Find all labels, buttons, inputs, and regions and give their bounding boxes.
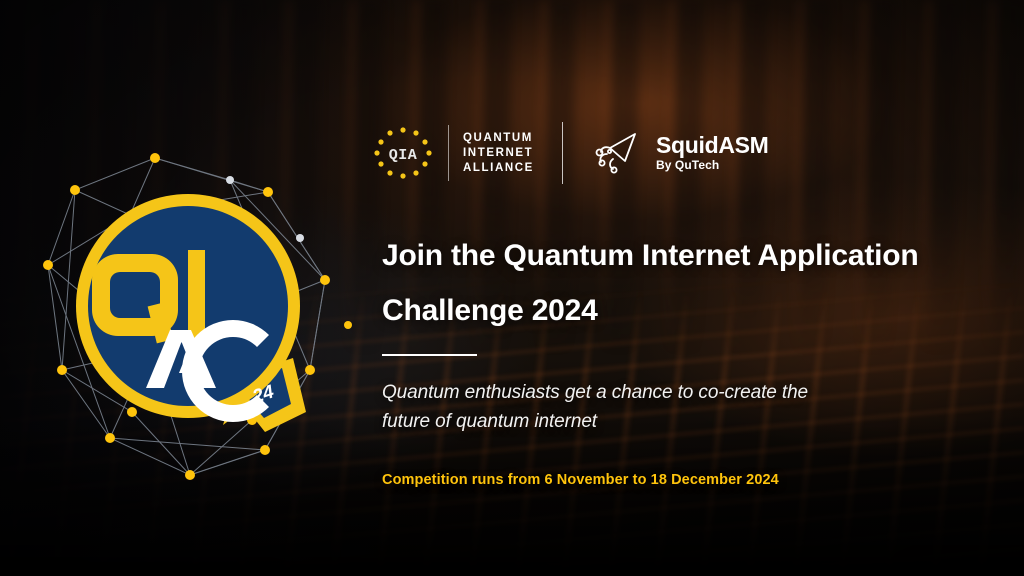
headline-line-2: Challenge 2024 xyxy=(382,283,942,338)
copy-block: Join the Quantum Internet Application Ch… xyxy=(382,228,942,488)
headline-divider-rule xyxy=(382,354,477,356)
qia-wordmark: QUANTUM INTERNET ALLIANCE xyxy=(463,131,534,176)
headline-line-1: Join the Quantum Internet Application xyxy=(382,228,942,283)
subheadline-line-2: future of quantum internet xyxy=(382,407,942,436)
squid-wordmark: SquidASM By QuTech xyxy=(656,133,769,173)
squid-icon xyxy=(591,130,641,176)
qia-word-line3: ALLIANCE xyxy=(463,161,534,176)
qia-word-line2: INTERNET xyxy=(463,146,534,161)
qia-logo: QIA QUANTUM INTERNET ALLIANCE xyxy=(372,125,534,181)
qia-stars-mark: QIA xyxy=(372,126,434,180)
qia-inner-divider xyxy=(448,125,449,181)
squid-subtitle: By QuTech xyxy=(656,158,769,173)
partner-divider xyxy=(562,122,563,184)
qia-word-line1: QUANTUM xyxy=(463,131,534,146)
promo-banner: 24 QIA xyxy=(0,0,1024,576)
squidasm-logo: SquidASM By QuTech xyxy=(591,130,769,176)
headline: Join the Quantum Internet Application Ch… xyxy=(382,228,942,338)
partner-logos: QIA QUANTUM INTERNET ALLIANCE xyxy=(372,118,769,188)
squid-name: SquidASM xyxy=(656,133,769,158)
subheadline: Quantum enthusiasts get a chance to co-c… xyxy=(382,378,942,436)
subheadline-line-1: Quantum enthusiasts get a chance to co-c… xyxy=(382,378,942,407)
qiac-logo: 24 xyxy=(60,180,330,450)
competition-dates: Competition runs from 6 November to 18 D… xyxy=(382,472,942,488)
qia-mark-text: QIA xyxy=(389,147,418,164)
